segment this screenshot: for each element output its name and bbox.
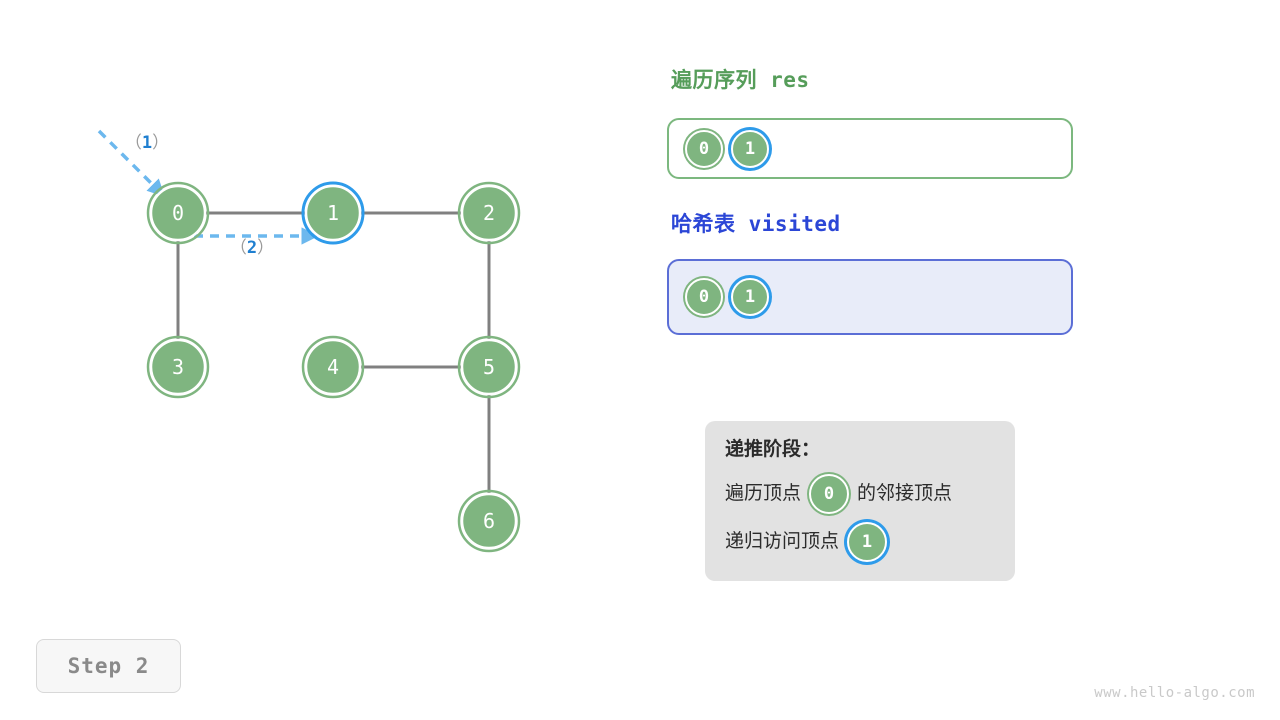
graph-diagram: 0123456 （1）（2） [0,0,640,720]
recursion-note-box: 递推阶段： 遍历顶点0的邻接顶点递归访问顶点1 [705,421,1015,581]
graph-node-3: 3 [148,337,208,397]
res-chip-1: 1 [731,130,769,168]
visited-chip-list: 01 [685,278,769,316]
step-badge: Step 2 [36,639,181,693]
note-chip-1: 1 [847,522,887,562]
graph-node-0: 0 [148,183,208,243]
slide-canvas: 0123456 （1）（2） 遍历序列 res 01 哈希表 visited 0… [0,0,1280,720]
res-section-title: 遍历序列 res [671,64,810,94]
graph-node-6: 6 [459,491,519,551]
res-chip-0: 0 [685,130,723,168]
note-line-list: 遍历顶点0的邻接顶点递归访问顶点1 [725,474,995,562]
res-sequence-box: 01 [667,118,1073,179]
entry-arrow-order-label: （1） [125,133,169,153]
note-line-2-prefix: 递归访问顶点 [725,531,839,552]
graph-panel: 0123456 （1）（2） [0,0,640,720]
visited-chip-0: 0 [685,278,723,316]
graph-node-label-0: 0 [172,201,184,225]
graph-node-5: 5 [459,337,519,397]
note-heading: 递推阶段： [725,439,995,460]
graph-node-2: 2 [459,183,519,243]
graph-node-label-6: 6 [483,509,495,533]
note-line-1: 遍历顶点0的邻接顶点 [725,474,995,514]
graph-node-label-3: 3 [172,355,184,379]
watermark: www.hello-algo.com [1094,685,1255,701]
graph-node-4: 4 [303,337,363,397]
graph-node-label-2: 2 [483,201,495,225]
graph-node-label-5: 5 [483,355,495,379]
visited-chip-1: 1 [731,278,769,316]
visited-hashtable-box: 01 [667,259,1073,335]
node-layer: 0123456 [148,183,519,551]
graph-node-1: 1 [303,183,363,243]
res-chip-list: 01 [685,130,769,168]
traverse-arrow-order-label: （2） [230,238,274,258]
note-line-1-suffix: 的邻接顶点 [857,483,952,504]
graph-node-label-1: 1 [327,201,339,225]
note-chip-0: 0 [809,474,849,514]
visited-section-title: 哈希表 visited [671,208,841,238]
graph-node-label-4: 4 [327,355,339,379]
note-line-1-prefix: 遍历顶点 [725,483,801,504]
note-line-2: 递归访问顶点1 [725,522,995,562]
